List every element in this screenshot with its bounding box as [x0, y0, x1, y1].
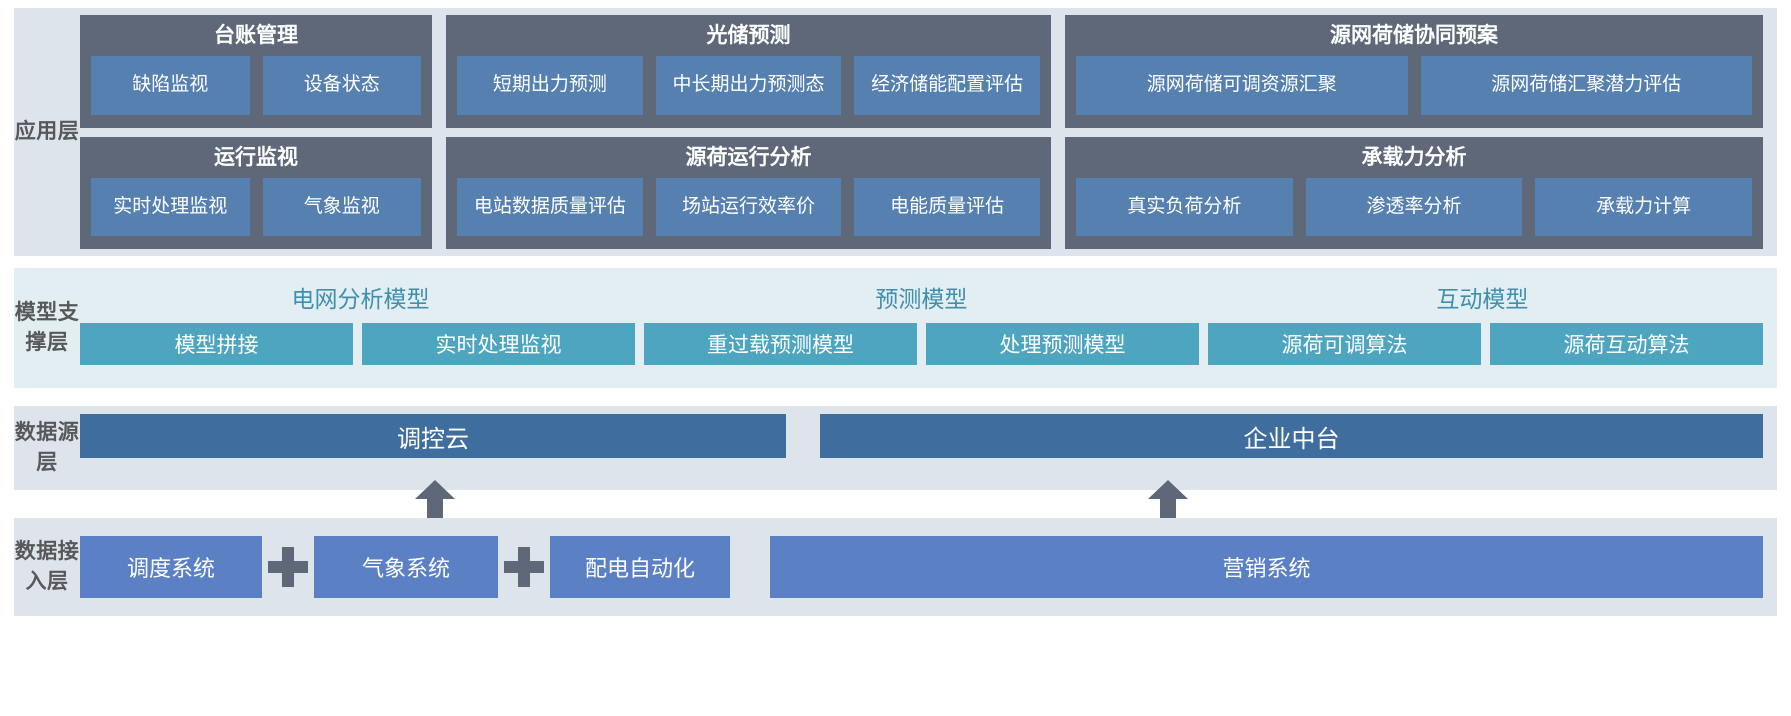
group-title: 源荷运行分析	[686, 144, 812, 172]
app-chip[interactable]: 设备状态	[263, 56, 422, 114]
app-column-2: 光储预测 短期出力预测 中长期出力预测态 经济储能配置评估 源荷运行分析 电站数…	[446, 15, 1051, 249]
plus-icon-1	[262, 547, 314, 587]
group-title: 光储预测	[707, 22, 791, 50]
app-chip[interactable]: 电站数据质量评估	[457, 178, 643, 236]
app-group-ledger-management: 台账管理 缺陷监视 设备状态	[80, 15, 432, 128]
layer-label-application: 应用层	[14, 8, 80, 256]
layer-body-application: 台账管理 缺陷监视 设备状态 运行监视 实时处理监视 气象监视	[80, 8, 1777, 256]
layer-label-model-support: 模型支撑层	[14, 268, 80, 388]
data-access-box-dispatch-system[interactable]: 调度系统	[80, 536, 262, 598]
app-chip[interactable]: 中长期出力预测态	[656, 56, 842, 114]
app-chip[interactable]: 气象监视	[263, 178, 422, 236]
data-source-box-enterprise-platform[interactable]: 企业中台	[820, 414, 1763, 458]
group-title: 承载力分析	[1362, 144, 1467, 172]
app-group-operation-monitoring: 运行监视 实时处理监视 气象监视	[80, 137, 432, 250]
layer-body-data-access: 调度系统 气象系统 配电自动化 营销系统	[80, 518, 1777, 616]
app-column-1: 台账管理 缺陷监视 设备状态 运行监视 实时处理监视 气象监视	[80, 15, 432, 249]
model-chip-row: 模型拼接 实时处理监视 重过载预测模型 处理预测模型 源荷可调算法 源荷互动算法	[80, 323, 1763, 365]
model-category-label: 电网分析模型	[80, 280, 641, 314]
layer-data-access: 数据接入层 调度系统 气象系统 配电自动化 营销系统	[14, 518, 1777, 616]
group-title: 源网荷储协同预案	[1330, 22, 1498, 50]
model-chip[interactable]: 重过载预测模型	[644, 323, 917, 365]
app-group-source-load-analysis: 源荷运行分析 电站数据质量评估 场站运行效率价 电能质量评估	[446, 137, 1051, 250]
group-title: 运行监视	[214, 144, 298, 172]
data-access-box-distribution-automation[interactable]: 配电自动化	[550, 536, 730, 598]
model-chip[interactable]: 模型拼接	[80, 323, 353, 365]
layer-application: 应用层 台账管理 缺陷监视 设备状态 运行监视 实时处理监视	[14, 8, 1777, 256]
layer-label-data-source: 数据源层	[14, 406, 80, 490]
app-chip[interactable]: 缺陷监视	[91, 56, 250, 114]
app-chip[interactable]: 真实负荷分析	[1076, 178, 1293, 236]
app-chip[interactable]: 源网荷储可调资源汇聚	[1076, 56, 1408, 114]
layer-body-model-support: 电网分析模型 预测模型 互动模型 模型拼接 实时处理监视 重过载预测模型 处理预…	[80, 268, 1777, 388]
app-group-pv-storage-forecast: 光储预测 短期出力预测 中长期出力预测态 经济储能配置评估	[446, 15, 1051, 128]
model-category-label: 预测模型	[641, 280, 1202, 314]
model-chip[interactable]: 处理预测模型	[926, 323, 1199, 365]
architecture-diagram: 应用层 台账管理 缺陷监视 设备状态 运行监视 实时处理监视	[0, 0, 1791, 716]
layer-data-source: 数据源层 调控云 企业中台	[14, 406, 1777, 490]
data-access-box-marketing-system[interactable]: 营销系统	[770, 536, 1763, 598]
app-chip[interactable]: 承载力计算	[1535, 178, 1752, 236]
layer-model-support: 模型支撑层 电网分析模型 预测模型 互动模型 模型拼接 实时处理监视 重过载预测…	[14, 268, 1777, 388]
data-access-box-weather-system[interactable]: 气象系统	[314, 536, 498, 598]
model-chip[interactable]: 源荷可调算法	[1208, 323, 1481, 365]
app-chip[interactable]: 经济储能配置评估	[854, 56, 1040, 114]
app-chip[interactable]: 场站运行效率价	[656, 178, 842, 236]
data-source-box-dispatch-cloud[interactable]: 调控云	[80, 414, 786, 458]
group-title: 台账管理	[214, 22, 298, 50]
layer-label-data-access: 数据接入层	[14, 518, 80, 616]
plus-icon-2	[498, 547, 550, 587]
model-chip[interactable]: 实时处理监视	[362, 323, 635, 365]
app-group-carrying-capacity-analysis: 承载力分析 真实负荷分析 渗透率分析 承载力计算	[1065, 137, 1763, 250]
app-chip[interactable]: 源网荷储汇聚潜力评估	[1421, 56, 1753, 114]
app-chip[interactable]: 实时处理监视	[91, 178, 250, 236]
app-group-coordination-plan: 源网荷储协同预案 源网荷储可调资源汇聚 源网荷储汇聚潜力评估	[1065, 15, 1763, 128]
model-chip[interactable]: 源荷互动算法	[1490, 323, 1763, 365]
model-category-row: 电网分析模型 预测模型 互动模型	[80, 276, 1763, 318]
app-column-3: 源网荷储协同预案 源网荷储可调资源汇聚 源网荷储汇聚潜力评估 承载力分析 真实负…	[1065, 15, 1763, 249]
app-chip[interactable]: 渗透率分析	[1306, 178, 1523, 236]
app-chip[interactable]: 电能质量评估	[854, 178, 1040, 236]
app-chip[interactable]: 短期出力预测	[457, 56, 643, 114]
layer-body-data-source: 调控云 企业中台	[80, 406, 1777, 490]
model-category-label: 互动模型	[1202, 280, 1763, 314]
